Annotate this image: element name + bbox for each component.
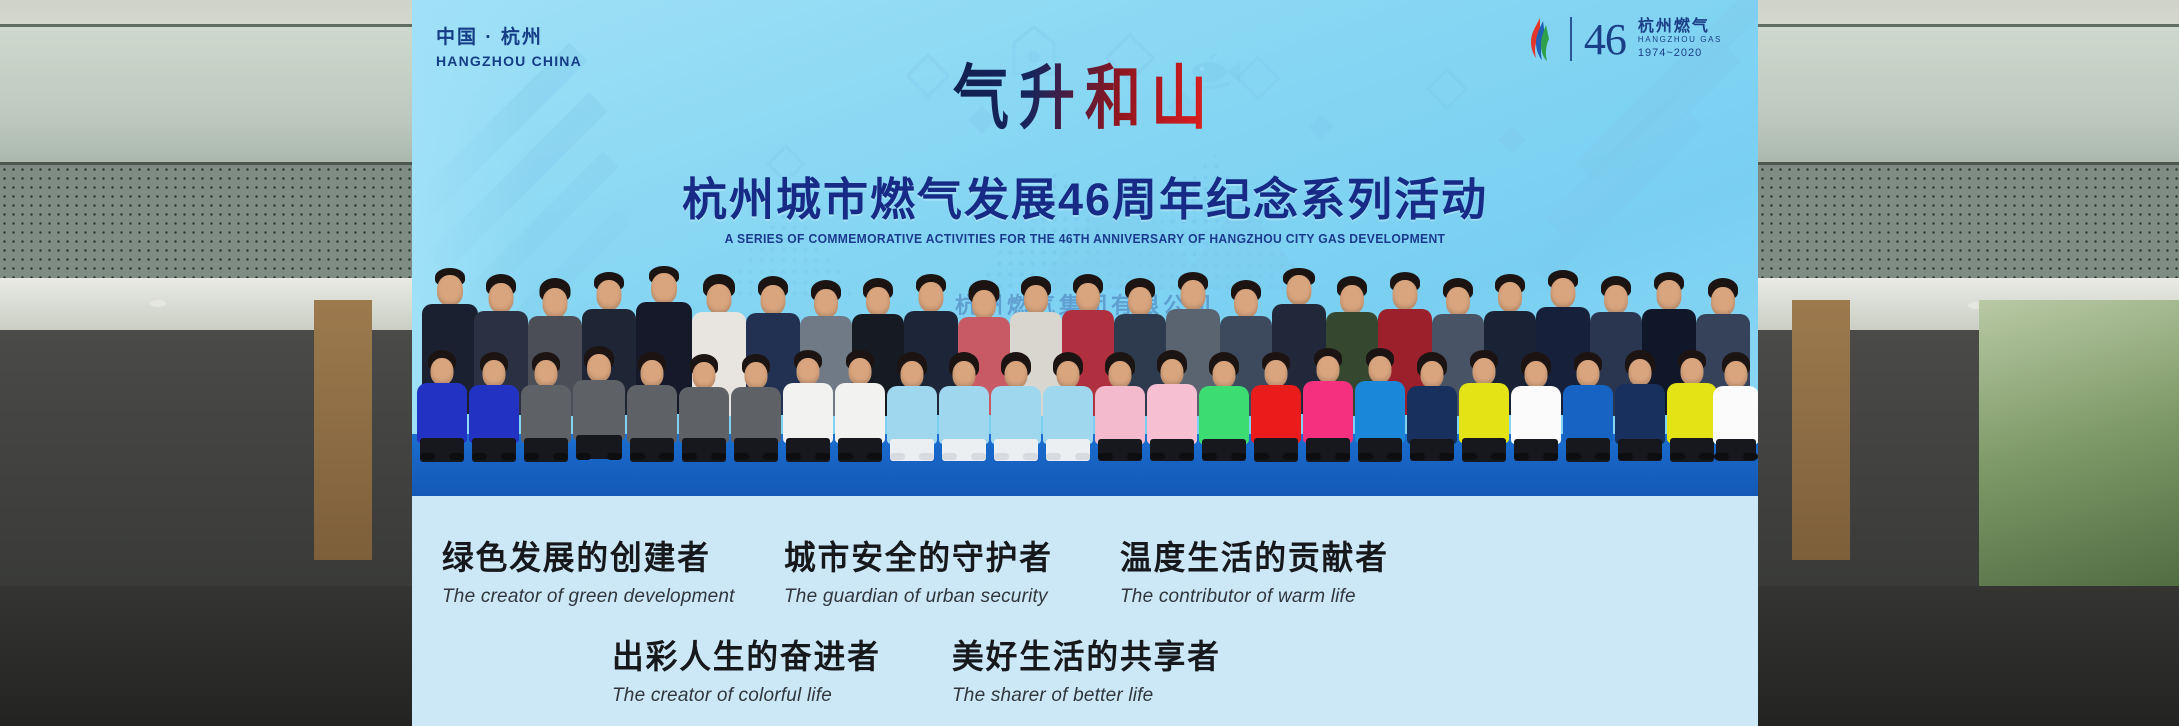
- slogan-en: The guardian of urban security: [784, 586, 1064, 608]
- venue-left-background: [0, 0, 412, 726]
- slogan-en: The creator of colorful life: [612, 685, 892, 707]
- slogan-cn: 出彩人生的奋进者: [612, 638, 881, 676]
- group-photo: [412, 262, 1758, 496]
- slogan-cn: 美好生活的共享者: [952, 638, 1221, 676]
- glass-balustrade: [0, 24, 412, 179]
- slogan-item-4: 出彩人生的奋进者 The creator of colorful life: [612, 638, 892, 707]
- slogan-en: The creator of green development: [442, 586, 735, 608]
- photo-row-front: [412, 340, 1758, 460]
- emblem-art-text: 气升和山: [953, 42, 1217, 143]
- slogan-section: 绿色发展的创建者 The creator of green developmen…: [412, 496, 1758, 726]
- headline-cn: 杭州城市燃气发展46周年纪念系列活动: [412, 175, 1758, 225]
- venue-right-background: [1758, 0, 2179, 726]
- event-poster-panel: 中国 · 杭州 HANGZHOU CHINA 46 杭州燃气 HANGZHOU …: [412, 0, 1758, 726]
- calligraphy-emblem: 气升和山: [412, 52, 1758, 133]
- slogan-item-5: 美好生活的共享者 The sharer of better life: [952, 638, 1232, 707]
- locale-cn: 中国 · 杭州: [436, 26, 582, 50]
- slogan-en: The contributor of warm life: [1120, 586, 1400, 608]
- glass-balustrade: [1758, 24, 2179, 179]
- slogan-item-2: 城市安全的守护者 The guardian of urban security: [784, 539, 1064, 608]
- slogan-cn: 温度生活的贡献者: [1120, 539, 1389, 577]
- floor-shadow: [1758, 586, 2179, 726]
- company-name-cn: 杭州燃气: [1638, 18, 1722, 36]
- poster-page: 中国 · 杭州 HANGZHOU CHINA 46 杭州燃气 HANGZHOU …: [0, 0, 2179, 726]
- slogan-cn: 绿色发展的创建者: [442, 539, 723, 577]
- perforated-panel: [0, 162, 412, 283]
- window-foliage: [1979, 300, 2179, 616]
- slogan-cn: 城市安全的守护者: [784, 539, 1053, 577]
- slogan-item-1: 绿色发展的创建者 The creator of green developmen…: [442, 539, 735, 608]
- wooden-door: [1792, 300, 1850, 560]
- wooden-door: [314, 300, 372, 560]
- stage-backdrop: 中国 · 杭州 HANGZHOU CHINA 46 杭州燃气 HANGZHOU …: [412, 0, 1758, 496]
- headline-block: 杭州城市燃气发展46周年纪念系列活动 A SERIES OF COMMEMORA…: [412, 175, 1758, 246]
- slogan-item-3: 温度生活的贡献者 The contributor of warm life: [1120, 539, 1400, 608]
- company-name-en: HANGZHOU GAS: [1638, 36, 1722, 45]
- perforated-panel: [1758, 162, 2179, 283]
- headline-en: A SERIES OF COMMEMORATIVE ACTIVITIES FOR…: [432, 232, 1738, 246]
- floor-shadow: [0, 586, 412, 726]
- ceiling-light-icon: [150, 300, 166, 307]
- slogan-en: The sharer of better life: [952, 685, 1232, 707]
